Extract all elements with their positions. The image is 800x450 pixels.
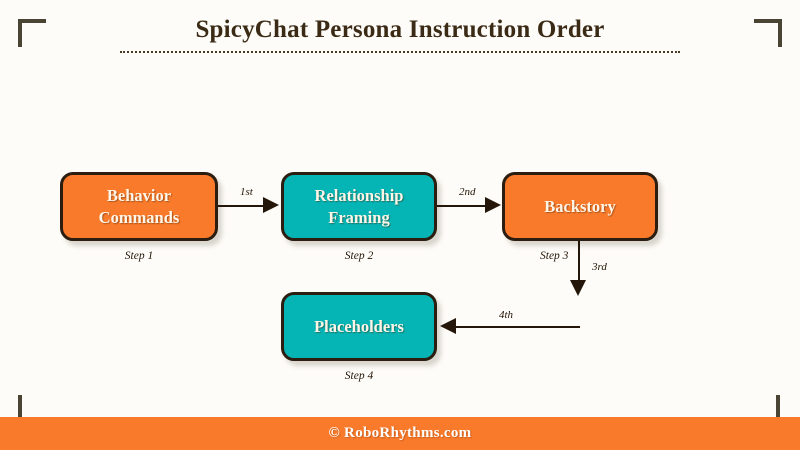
arrowhead-down-icon [570, 280, 586, 296]
flow-node-behavior-commands[interactable]: Behavior Commands [60, 172, 218, 241]
flow-node-backstory[interactable]: Backstory [502, 172, 658, 241]
step-caption-4: Step 4 [281, 370, 437, 382]
flow-node-placeholders[interactable]: Placeholders [281, 292, 437, 361]
arrowhead-left-icon [440, 318, 456, 334]
diagram-canvas: SpicyChat Persona Instruction Order Beha… [0, 0, 800, 450]
arrow-connector-1 [218, 205, 265, 207]
flow-node-label-line2: Commands [99, 208, 180, 227]
flow-node-label: Relationship Framing [307, 185, 412, 229]
flow-node-label: Backstory [536, 196, 624, 218]
arrow-connector-4 [456, 326, 580, 328]
footer-bar: © RoboRhythms.com [0, 417, 800, 450]
flow-node-label-line1: Relationship [315, 186, 404, 205]
flow-node-label: Placeholders [306, 316, 412, 338]
corner-bracket-bottom-right [752, 395, 780, 417]
arrow-connector-2 [437, 205, 485, 207]
step-caption-2: Step 2 [281, 250, 437, 262]
arrow-label-3: 3rd [592, 261, 607, 273]
arrow-label-4: 4th [499, 309, 513, 321]
arrow-label-1: 1st [240, 186, 253, 198]
title-divider [120, 51, 680, 53]
corner-bracket-bottom-left [18, 395, 46, 417]
arrowhead-right-icon [485, 197, 501, 213]
step-caption-3: Step 3 [540, 250, 600, 262]
flow-node-label-line2: Framing [328, 208, 389, 227]
flow-node-relationship-framing[interactable]: Relationship Framing [281, 172, 437, 241]
step-caption-1: Step 1 [60, 250, 218, 262]
flow-node-label: Behavior Commands [91, 185, 188, 229]
footer-copyright-text: © RoboRhythms.com [329, 425, 472, 442]
flow-node-label-line1: Behavior [107, 186, 171, 205]
arrow-label-2: 2nd [459, 186, 476, 198]
page-title: SpicyChat Persona Instruction Order [0, 16, 800, 44]
arrow-connector-3 [578, 241, 580, 283]
arrowhead-right-icon [263, 197, 279, 213]
